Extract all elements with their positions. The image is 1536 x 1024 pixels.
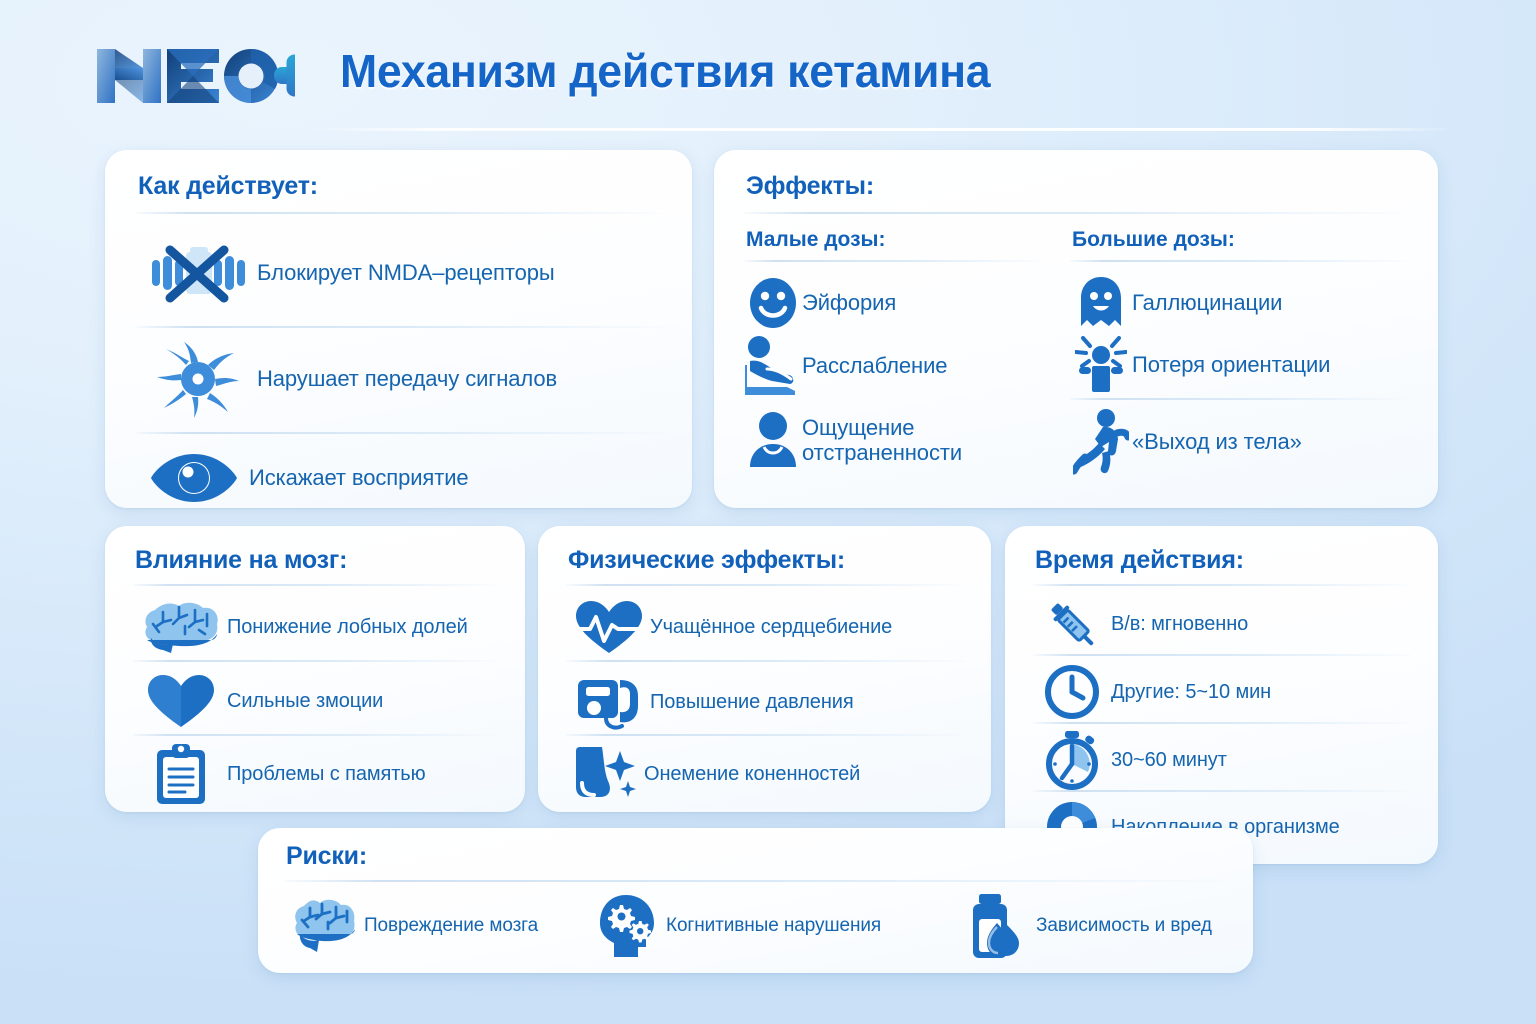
heart-icon — [135, 673, 227, 729]
subtitle-low-doses: Малые дозы: — [746, 228, 885, 252]
head-gears-icon — [588, 893, 666, 959]
clock-icon — [1033, 665, 1111, 719]
divider — [566, 660, 964, 662]
pill-bottle-icon — [958, 893, 1036, 959]
list-item: Сильные змоции — [135, 670, 507, 732]
smiley-face-icon — [744, 277, 802, 329]
list-item: «Выход из тела» — [1070, 406, 1410, 478]
logo-letter-h — [97, 49, 161, 103]
card-title: Риски: — [286, 842, 367, 871]
list-item: Учащённое сердцебиение — [568, 596, 968, 658]
card-title: Время действия: — [1035, 546, 1244, 575]
list-item: Блокирует NMDA–рецепторы — [139, 230, 669, 315]
list-item-label: Другие: 5~10 мин — [1111, 681, 1271, 704]
divider — [566, 584, 964, 586]
divider — [744, 260, 1044, 262]
divider — [133, 660, 497, 662]
list-item-label: Когнитивные нарушения — [666, 915, 881, 937]
list-item-label: Блокирует NMDA–рецепторы — [257, 260, 555, 285]
card-duration: Время действия: В/в: мгно — [1005, 526, 1438, 864]
card-brain-impact: Влияние на мозг: Понижение лобн — [105, 526, 525, 812]
list-item: Другие: 5~10 мин — [1033, 662, 1415, 722]
brain-icon — [135, 600, 227, 654]
list-item-label: Эйфория — [802, 290, 896, 315]
list-item-label: Потеря ориентации — [1132, 352, 1330, 377]
list-item-label: Повышение давления — [650, 691, 854, 714]
divider — [284, 880, 1226, 882]
list-item: Расслабление — [744, 332, 1054, 400]
page-title: Механизм действия кетамина — [340, 44, 990, 98]
card-effects: Эффекты: Малые дозы: Эйфория — [714, 150, 1438, 508]
blood-pressure-monitor-icon — [568, 672, 650, 732]
list-item-label: Понижение лобных долей — [227, 616, 468, 639]
ghost-icon — [1070, 276, 1132, 330]
stopwatch-icon — [1033, 730, 1111, 790]
list-item: Понижение лобных долей — [135, 596, 507, 658]
reclining-person-icon — [744, 335, 802, 397]
list-item-label: Нарушает передачу сигналов — [257, 366, 557, 391]
list-item: Повышение давления — [568, 670, 968, 734]
list-item-label: Учащённое сердцебиение — [650, 616, 892, 639]
divider — [1070, 398, 1406, 400]
list-item: Онемение коненностей — [568, 742, 968, 806]
list-item: В/в: мгновенно — [1033, 594, 1415, 654]
list-item-label: Повреждение мозга — [364, 915, 538, 937]
card-title: Как действует: — [138, 172, 318, 201]
list-item-label: «Выход из тела» — [1132, 429, 1302, 454]
divider — [744, 212, 1406, 214]
heart-pulse-icon — [568, 599, 650, 655]
list-item: Когнитивные нарушения — [588, 890, 958, 962]
divider — [566, 734, 964, 736]
card-title: Физические эффекты: — [568, 546, 845, 575]
card-title: Эффекты: — [746, 172, 874, 201]
list-item: Зависимость и вред — [958, 890, 1248, 962]
divider — [1070, 260, 1406, 262]
list-item-label: Зависимость и вред — [1036, 915, 1212, 937]
logo-letter-e — [167, 49, 219, 103]
damaged-brain-icon — [284, 897, 364, 955]
numb-foot-icon — [568, 745, 644, 803]
list-item: Искажает восприятие — [139, 442, 669, 514]
person-silhouette-icon — [744, 411, 802, 469]
logo-letter-o — [224, 49, 278, 103]
list-item-label: 30~60 минут — [1111, 749, 1227, 772]
list-item-label: Искажает восприятие — [249, 465, 469, 490]
eye-icon — [139, 450, 249, 506]
divider — [1033, 654, 1411, 656]
syringe-icon — [1033, 593, 1111, 655]
divider — [1033, 722, 1411, 724]
divider — [133, 584, 497, 586]
list-item: Повреждение мозга — [284, 890, 584, 962]
list-item-label: Сильные змоции — [227, 690, 383, 713]
list-item: Эйфория — [744, 272, 1054, 334]
header-divider — [310, 128, 1455, 131]
divider — [133, 734, 497, 736]
list-item: Проблемы с памятью — [135, 742, 507, 806]
blocked-receptor-icon — [139, 242, 257, 304]
divider — [136, 326, 663, 328]
disoriented-person-icon — [1070, 336, 1132, 394]
neuron-icon — [139, 340, 257, 418]
card-physical-effects: Физические эффекты: Учащённое сердцебиен… — [538, 526, 991, 812]
list-item-label: В/в: мгновенно — [1111, 613, 1248, 636]
running-person-icon — [1070, 409, 1132, 475]
infographic-canvas: Механизм действия кетамина Как действует… — [0, 0, 1536, 1024]
list-item-label: Расслабление — [802, 353, 947, 378]
brand-logo — [95, 41, 295, 111]
list-item-label: Галлюцинации — [1132, 290, 1282, 315]
list-item: Потеря ориентации — [1070, 334, 1410, 396]
subtitle-high-doses: Большие дозы: — [1072, 228, 1235, 252]
divider — [136, 432, 663, 434]
logo-plus — [274, 55, 295, 97]
divider — [1033, 790, 1411, 792]
card-title: Влияние на мозг: — [135, 546, 347, 575]
list-item: Галлюцинации — [1070, 272, 1410, 334]
divider — [1033, 584, 1411, 586]
list-item-label: Онемение коненностей — [644, 763, 860, 786]
divider — [136, 212, 663, 214]
list-item-label: Проблемы с памятью — [227, 763, 426, 786]
list-item-label: Ощущение отстраненности — [802, 415, 962, 465]
list-item: Нарушает передачу сигналов — [139, 336, 669, 422]
list-item: Ощущение отстраненности — [744, 404, 1054, 476]
card-risks: Риски: Повреждение мозга — [258, 828, 1253, 973]
clipboard-icon — [135, 743, 227, 805]
card-how-it-works: Как действует: — [105, 150, 692, 508]
list-item: 30~60 минут — [1033, 730, 1415, 790]
